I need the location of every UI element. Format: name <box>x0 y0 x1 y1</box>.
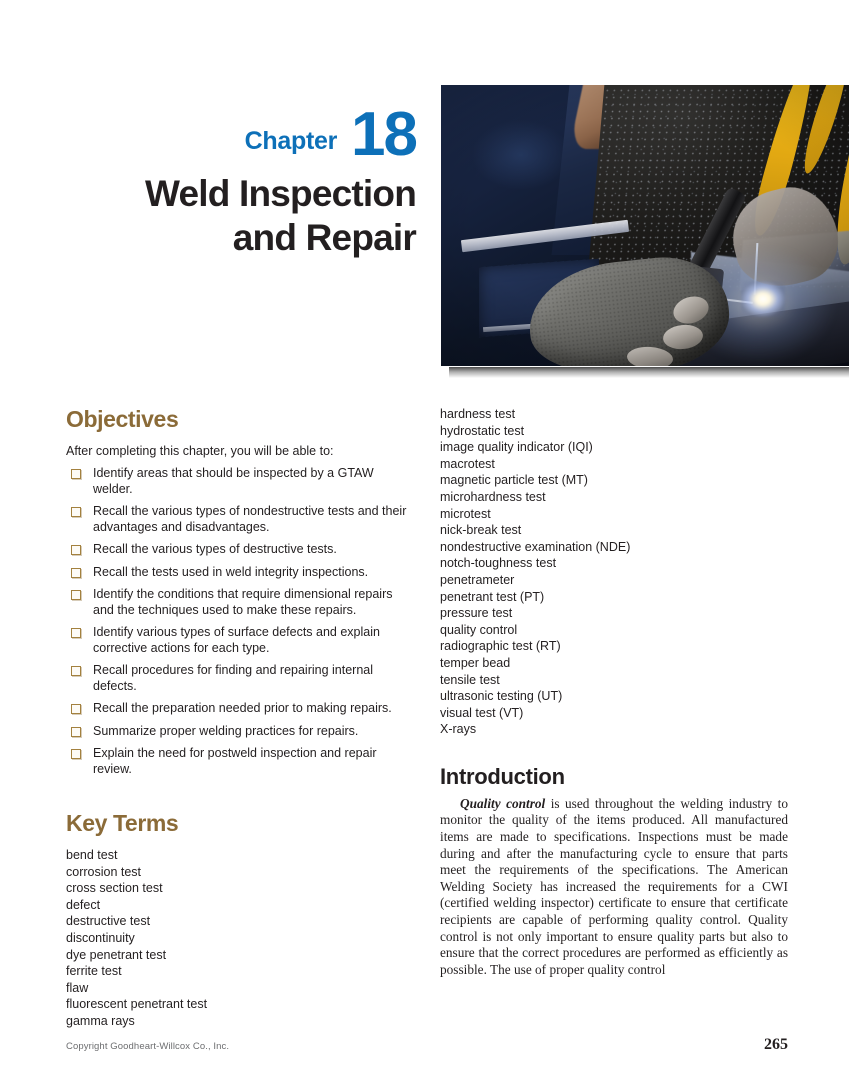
list-item: image quality indicator (IQI) <box>440 439 788 456</box>
list-item: nondestructive examination (NDE) <box>440 539 788 556</box>
list-item: Identify various types of surface defect… <box>66 625 414 656</box>
list-item: Recall procedures for finding and repair… <box>66 663 414 694</box>
list-item: bend test <box>66 847 414 864</box>
checkbox-icon <box>71 749 81 759</box>
list-item: Recall the various types of destructive … <box>66 542 414 558</box>
photo-vignette <box>441 85 849 366</box>
introduction-heading: Introduction <box>440 764 788 790</box>
list-item: corrosion test <box>66 864 414 881</box>
list-item: fluorescent penetrant test <box>66 996 414 1013</box>
textbook-page: Chapter 18 Weld Inspection and Repair <box>0 0 849 1087</box>
chapter-line: Chapter 18 <box>66 104 416 166</box>
checkbox-icon <box>71 545 81 555</box>
left-column: Objectives After completing this chapter… <box>66 406 414 1030</box>
list-item: defect <box>66 897 414 914</box>
right-column: hardness test hydrostatic test image qua… <box>440 406 788 978</box>
objective-text: Identify various types of surface defect… <box>93 625 380 655</box>
key-terms-heading: Key Terms <box>66 810 414 836</box>
list-item: Explain the need for postweld inspection… <box>66 746 414 777</box>
list-item: microtest <box>440 506 788 523</box>
introduction-body-text: is used throughout the welding industry … <box>440 796 788 977</box>
list-item: microhardness test <box>440 489 788 506</box>
objectives-heading: Objectives <box>66 406 414 432</box>
list-item: Summarize proper welding practices for r… <box>66 724 414 740</box>
checkbox-icon <box>71 727 81 737</box>
checkbox-icon <box>71 507 81 517</box>
list-item: discontinuity <box>66 930 414 947</box>
key-terms-list-right: hardness test hydrostatic test image qua… <box>440 406 788 738</box>
objective-text: Identify the conditions that require dim… <box>93 587 392 617</box>
objective-text: Recall the various types of nondestructi… <box>93 504 406 534</box>
chapter-title-line-2: and Repair <box>66 216 416 260</box>
list-item: quality control <box>440 622 788 639</box>
page-title: Weld Inspection and Repair <box>66 172 416 260</box>
copyright-notice: Copyright Goodheart-Willcox Co., Inc. <box>66 1041 229 1052</box>
checkbox-icon <box>71 568 81 578</box>
list-item: tensile test <box>440 672 788 689</box>
section-spacer <box>66 784 414 810</box>
objective-text: Summarize proper welding practices for r… <box>93 724 358 738</box>
list-item: notch-toughness test <box>440 555 788 572</box>
chapter-heading-block: Chapter 18 Weld Inspection and Repair <box>66 104 416 260</box>
checkbox-icon <box>71 704 81 714</box>
list-item: flaw <box>66 980 414 997</box>
page-footer: Copyright Goodheart-Willcox Co., Inc. 26… <box>66 1036 788 1054</box>
list-item: visual test (VT) <box>440 705 788 722</box>
photo-canvas <box>441 85 849 366</box>
chapter-label: Chapter <box>245 127 337 156</box>
list-item: destructive test <box>66 913 414 930</box>
checkbox-icon <box>71 469 81 479</box>
list-item: temper bead <box>440 655 788 672</box>
list-item: Recall the various types of nondestructi… <box>66 504 414 535</box>
list-item: ultrasonic testing (UT) <box>440 688 788 705</box>
list-item: pressure test <box>440 605 788 622</box>
chapter-title-line-1: Weld Inspection <box>66 172 416 216</box>
objective-text: Recall the various types of destructive … <box>93 542 337 556</box>
list-item: hardness test <box>440 406 788 423</box>
objectives-lead-in: After completing this chapter, you will … <box>66 443 414 459</box>
list-item: Identify the conditions that require dim… <box>66 587 414 618</box>
list-item: hydrostatic test <box>440 423 788 440</box>
list-item: X-rays <box>440 721 788 738</box>
key-term-emphasis: Quality control <box>460 796 545 811</box>
objective-text: Recall the tests used in weld integrity … <box>93 565 368 579</box>
list-item: cross section test <box>66 880 414 897</box>
list-item: Identify areas that should be inspected … <box>66 466 414 497</box>
list-item: Recall the tests used in weld integrity … <box>66 565 414 581</box>
chapter-opener-photo <box>441 85 849 366</box>
objective-text: Explain the need for postweld inspection… <box>93 746 377 776</box>
key-terms-list-left: bend test corrosion test cross section t… <box>66 847 414 1030</box>
list-item: radiographic test (RT) <box>440 638 788 655</box>
objective-text: Recall procedures for finding and repair… <box>93 663 373 693</box>
objective-text: Identify areas that should be inspected … <box>93 466 374 496</box>
checkbox-icon <box>71 628 81 638</box>
introduction-paragraph: Quality control is used throughout the w… <box>440 796 788 979</box>
list-item: nick-break test <box>440 522 788 539</box>
checkbox-icon <box>71 590 81 600</box>
objective-text: Recall the preparation needed prior to m… <box>93 701 392 715</box>
list-item: penetrant test (PT) <box>440 589 788 606</box>
photo-drop-shadow <box>449 367 849 378</box>
list-item: ferrite test <box>66 963 414 980</box>
list-item: penetrameter <box>440 572 788 589</box>
objectives-list: Identify areas that should be inspected … <box>66 466 414 777</box>
list-item: gamma rays <box>66 1013 414 1030</box>
page-number: 265 <box>764 1036 788 1054</box>
chapter-number: 18 <box>351 104 416 166</box>
list-item: magnetic particle test (MT) <box>440 472 788 489</box>
list-item: Recall the preparation needed prior to m… <box>66 701 414 717</box>
list-item: dye penetrant test <box>66 947 414 964</box>
checkbox-icon <box>71 666 81 676</box>
list-item: macrotest <box>440 456 788 473</box>
